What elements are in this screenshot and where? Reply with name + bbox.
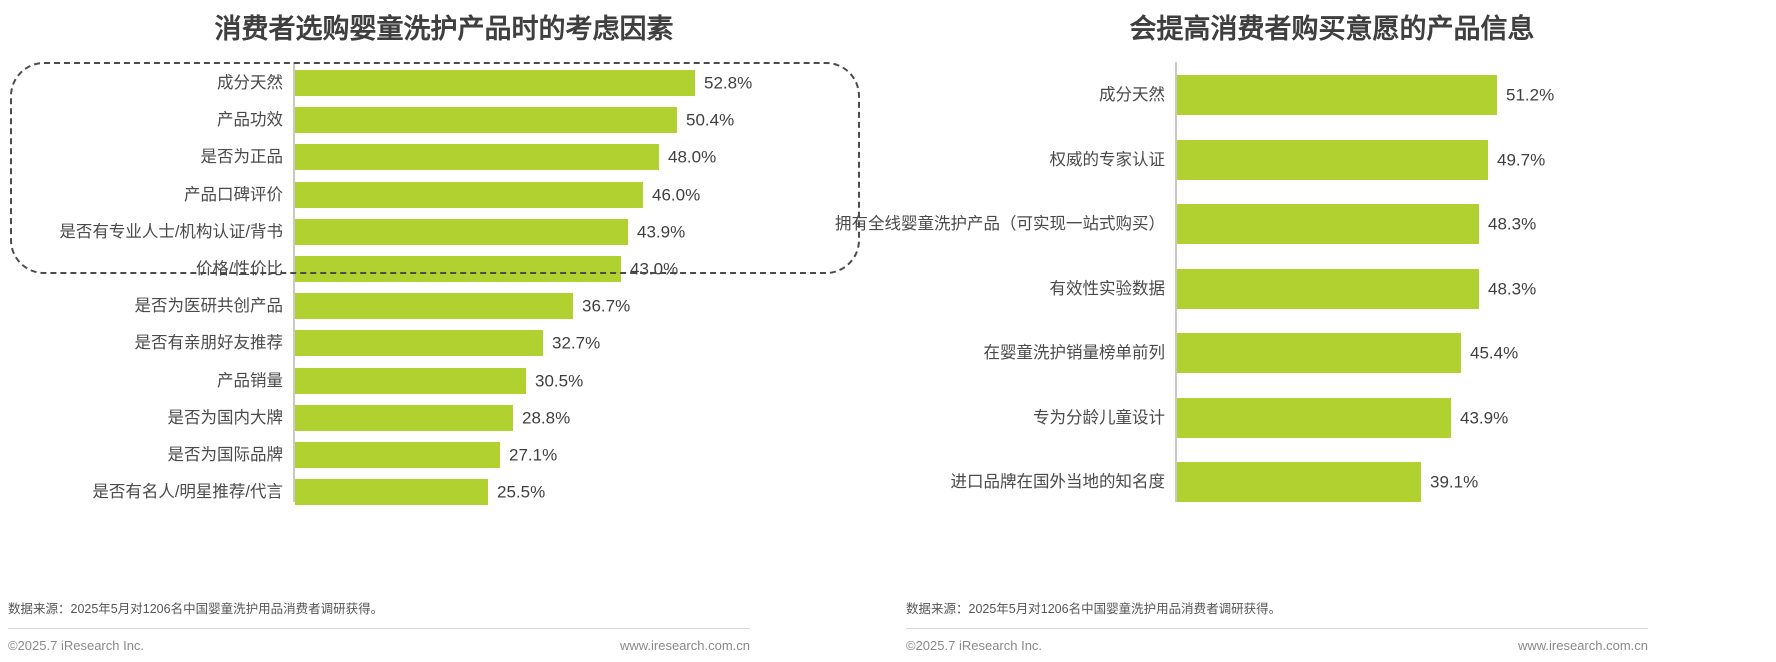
bar (295, 405, 513, 431)
bar (1177, 333, 1461, 373)
left-chart-bars: 成分天然52.8%产品功效50.4%是否为正品48.0%产品口碑评价46.0%是… (0, 62, 888, 502)
bar-value-label: 43.9% (1460, 409, 1508, 426)
bar-row: 产品口碑评价46.0% (0, 182, 888, 208)
bar (1177, 75, 1497, 115)
bar-category-label: 产品销量 (217, 372, 283, 389)
bar-category-label: 成分天然 (217, 75, 283, 92)
left-footer-url[interactable]: www.iresearch.com.cn (620, 638, 750, 653)
bar-category-label: 产品口碑评价 (184, 186, 283, 203)
bar (295, 368, 526, 394)
right-footer: 数据来源：2025年5月对1206名中国婴童洗护用品消费者调研获得。 ©2025… (888, 590, 1776, 662)
bar-row: 是否有亲朋好友推荐32.7% (0, 330, 888, 356)
left-footer-divider (8, 628, 750, 629)
bar-row: 产品销量30.5% (0, 368, 888, 394)
bar-value-label: 51.2% (1506, 87, 1554, 104)
bar-row: 产品功效50.4% (0, 107, 888, 133)
bar-row: 进口品牌在国外当地的知名度39.1% (888, 462, 1776, 502)
bar-value-label: 28.8% (522, 409, 570, 426)
right-footer-divider (906, 628, 1648, 629)
bar (295, 330, 543, 356)
bar (295, 144, 659, 170)
bar-category-label: 是否有亲朋好友推荐 (135, 335, 284, 352)
right-footer-url[interactable]: www.iresearch.com.cn (1518, 638, 1648, 653)
bar-row: 是否为医研共创产品36.7% (0, 293, 888, 319)
bar (1177, 204, 1479, 244)
bar (1177, 269, 1479, 309)
bar-category-label: 价格/性价比 (196, 261, 283, 278)
bar-value-label: 39.1% (1430, 474, 1478, 491)
bar-category-label: 权威的专家认证 (1050, 151, 1166, 168)
bar-value-label: 48.0% (668, 149, 716, 166)
bar-row: 是否为国内大牌28.8% (0, 405, 888, 431)
bar-category-label: 拥有全线婴童洗护产品（可实现一站式购买） (835, 216, 1165, 233)
bar-category-label: 是否为正品 (201, 149, 284, 166)
bar-category-label: 是否有专业人士/机构认证/背书 (59, 224, 283, 241)
bar-value-label: 46.0% (652, 186, 700, 203)
bar (295, 293, 573, 319)
left-footer-source: 数据来源：2025年5月对1206名中国婴童洗护用品消费者调研获得。 (8, 598, 383, 617)
bar-row: 价格/性价比43.0% (0, 256, 888, 282)
bar-value-label: 48.3% (1488, 280, 1536, 297)
left-chart-plot: 成分天然52.8%产品功效50.4%是否为正品48.0%产品口碑评价46.0%是… (0, 62, 888, 502)
bar-category-label: 产品功效 (217, 112, 283, 129)
bar-value-label: 52.8% (704, 75, 752, 92)
bar-value-label: 30.5% (535, 372, 583, 389)
bar (1177, 462, 1421, 502)
bar-category-label: 有效性实验数据 (1050, 280, 1166, 297)
bar-value-label: 43.0% (630, 261, 678, 278)
bar-value-label: 27.1% (509, 447, 557, 464)
bar-category-label: 是否为医研共创产品 (135, 298, 284, 315)
right-footer-copyright: ©2025.7 iResearch Inc. (906, 638, 1042, 653)
bar (295, 70, 695, 96)
bar-category-label: 是否为国际品牌 (168, 447, 284, 464)
bar (295, 479, 488, 505)
left-footer-copyright: ©2025.7 iResearch Inc. (8, 638, 144, 653)
bar (295, 182, 643, 208)
bar (295, 219, 628, 245)
right-chart-panel: 会提高消费者购买意愿的产品信息 成分天然51.2%权威的专家认证49.7%拥有全… (888, 0, 1776, 662)
slide-root: 消费者选购婴童洗护产品时的考虑因素 成分天然52.8%产品功效50.4%是否为正… (0, 0, 1776, 662)
bar-category-label: 是否为国内大牌 (168, 410, 284, 427)
bar-value-label: 45.4% (1470, 345, 1518, 362)
bar-row: 成分天然51.2% (888, 75, 1776, 115)
bar-category-label: 在婴童洗护销量榜单前列 (984, 345, 1166, 362)
bar-category-label: 成分天然 (1099, 87, 1165, 104)
bar-value-label: 43.9% (637, 223, 685, 240)
bar-row: 拥有全线婴童洗护产品（可实现一站式购买）48.3% (888, 204, 1776, 244)
bar-row: 成分天然52.8% (0, 70, 888, 96)
bar (1177, 398, 1451, 438)
left-footer: 数据来源：2025年5月对1206名中国婴童洗护用品消费者调研获得。 ©2025… (0, 590, 888, 662)
bar-row: 权威的专家认证49.7% (888, 140, 1776, 180)
bar-value-label: 36.7% (582, 298, 630, 315)
left-chart-title: 消费者选购婴童洗护产品时的考虑因素 (0, 0, 888, 43)
bar-category-label: 专为分龄儿童设计 (1033, 409, 1165, 426)
bar-value-label: 49.7% (1497, 151, 1545, 168)
bar-category-label: 进口品牌在国外当地的知名度 (951, 474, 1166, 491)
bar-row: 是否有名人/明星推荐/代言25.5% (0, 479, 888, 505)
right-chart-title: 会提高消费者购买意愿的产品信息 (888, 0, 1776, 43)
left-chart-panel: 消费者选购婴童洗护产品时的考虑因素 成分天然52.8%产品功效50.4%是否为正… (0, 0, 888, 662)
bar-row: 是否有专业人士/机构认证/背书43.9% (0, 219, 888, 245)
bar (1177, 140, 1488, 180)
bar-row: 专为分龄儿童设计43.9% (888, 398, 1776, 438)
bar (295, 256, 621, 282)
bar-row: 有效性实验数据48.3% (888, 269, 1776, 309)
bar-value-label: 48.3% (1488, 216, 1536, 233)
bar-value-label: 50.4% (686, 112, 734, 129)
right-chart-plot: 成分天然51.2%权威的专家认证49.7%拥有全线婴童洗护产品（可实现一站式购买… (888, 62, 1776, 502)
bar (295, 107, 677, 133)
right-footer-source: 数据来源：2025年5月对1206名中国婴童洗护用品消费者调研获得。 (906, 598, 1281, 617)
right-chart-bars: 成分天然51.2%权威的专家认证49.7%拥有全线婴童洗护产品（可实现一站式购买… (888, 62, 1776, 502)
bar-row: 是否为正品48.0% (0, 144, 888, 170)
bar-value-label: 32.7% (552, 335, 600, 352)
bar-row: 在婴童洗护销量榜单前列45.4% (888, 333, 1776, 373)
bar (295, 442, 500, 468)
bar-category-label: 是否有名人/明星推荐/代言 (92, 484, 283, 501)
bar-row: 是否为国际品牌27.1% (0, 442, 888, 468)
bar-value-label: 25.5% (497, 484, 545, 501)
